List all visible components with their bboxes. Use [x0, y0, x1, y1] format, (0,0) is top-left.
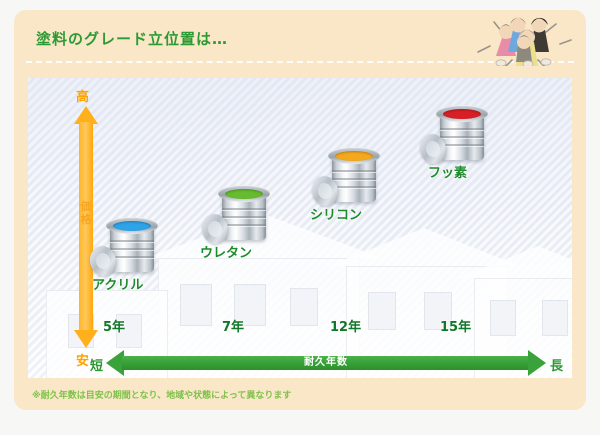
paint-years-fluorine: 15年	[440, 316, 471, 335]
price-cheap-label: 安	[76, 350, 89, 369]
durability-long-label: 長	[550, 355, 563, 374]
bg-window	[368, 292, 396, 330]
paint-name-fluorine: フッ素	[428, 162, 467, 181]
durability-short-label: 短	[90, 355, 103, 374]
price-axis-arrow	[74, 106, 98, 348]
can-paint-surface	[225, 189, 263, 199]
can-paint-surface	[443, 109, 481, 119]
chart-stage: 高 価格 安 アクリル 5年 ウレタン	[28, 78, 572, 378]
bg-window	[542, 300, 568, 336]
family-people-illustration	[472, 12, 576, 66]
bg-window	[180, 284, 212, 326]
paint-name-acrylic: アクリル	[92, 274, 143, 293]
can-paint-surface	[113, 221, 151, 231]
paint-years-acrylic: 5年	[103, 316, 125, 335]
price-arrow-down-head	[74, 330, 98, 348]
can-paint-surface	[335, 151, 373, 161]
paint-years-silicon: 12年	[330, 316, 361, 335]
price-axis-label: 価格	[79, 200, 93, 226]
paint-years-urethane: 7年	[222, 316, 244, 335]
infographic-card: 塗料のグレード立位置は…	[14, 10, 586, 410]
durability-axis-arrow: 耐久年数	[106, 350, 546, 376]
bg-window	[490, 300, 516, 336]
bg-window	[290, 288, 318, 326]
bg-roof	[458, 246, 572, 278]
paint-name-silicon: シリコン	[310, 204, 362, 223]
footnote-text: ※耐久年数は目安の期間となり、地域や状態によって異なります	[32, 388, 291, 401]
durability-axis-label: 耐久年数	[106, 356, 546, 370]
price-high-label: 高	[76, 86, 89, 105]
paint-name-urethane: ウレタン	[200, 242, 252, 261]
price-arrow-shaft	[79, 122, 93, 332]
page-title: 塗料のグレード立位置は…	[36, 28, 228, 49]
